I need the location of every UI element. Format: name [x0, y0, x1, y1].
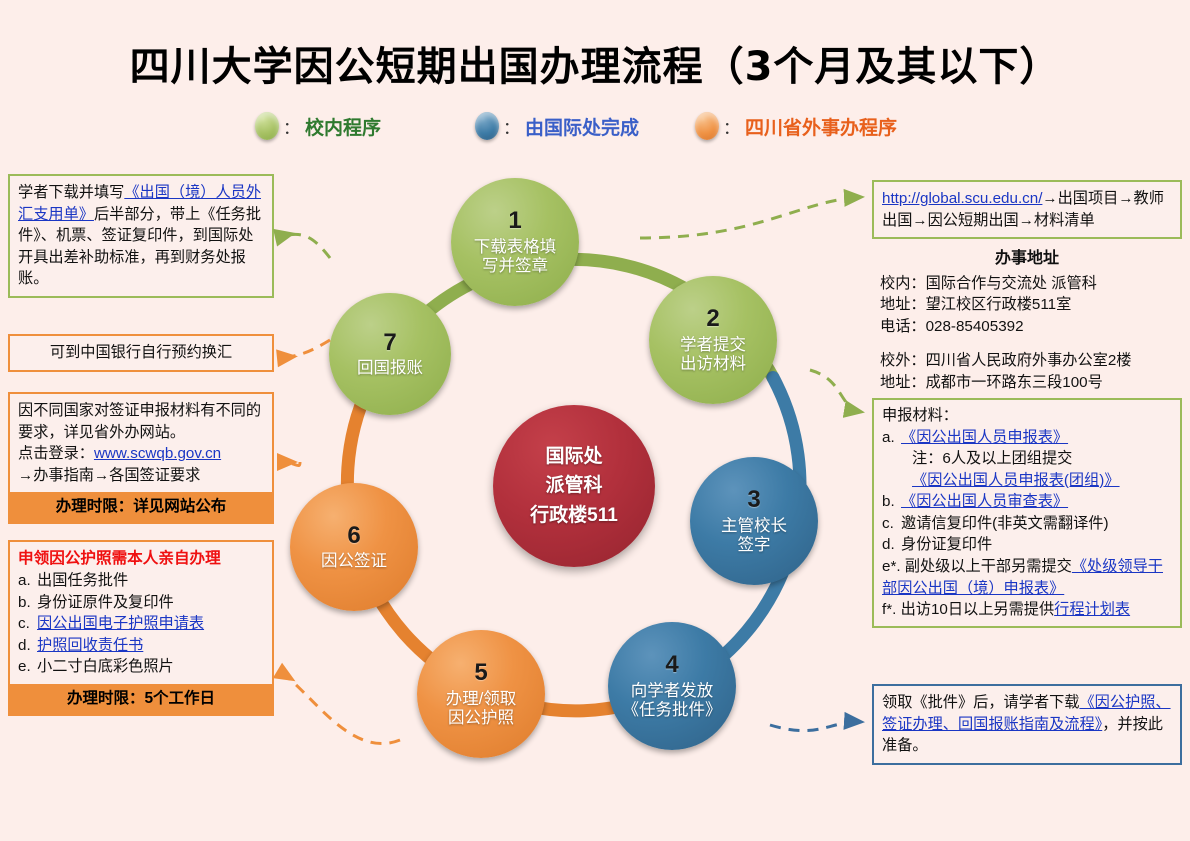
diagram-canvas: 四川大学因公短期出国办理流程（3个月及其以下） ： 校内程序 ： 由国际处完成 … [0, 0, 1190, 841]
arrow-node7-to-reimburse [278, 234, 330, 258]
arrow-node1-to-website [640, 197, 862, 238]
arrow-node4-to-approval [770, 722, 862, 731]
connector-arrows [0, 0, 1190, 841]
arrow-node7-to-bank [280, 340, 330, 358]
arrow-node5-to-passport [280, 672, 400, 744]
arrow-node6-to-visa [280, 462, 300, 466]
arrow-node2-to-materials [810, 370, 862, 412]
